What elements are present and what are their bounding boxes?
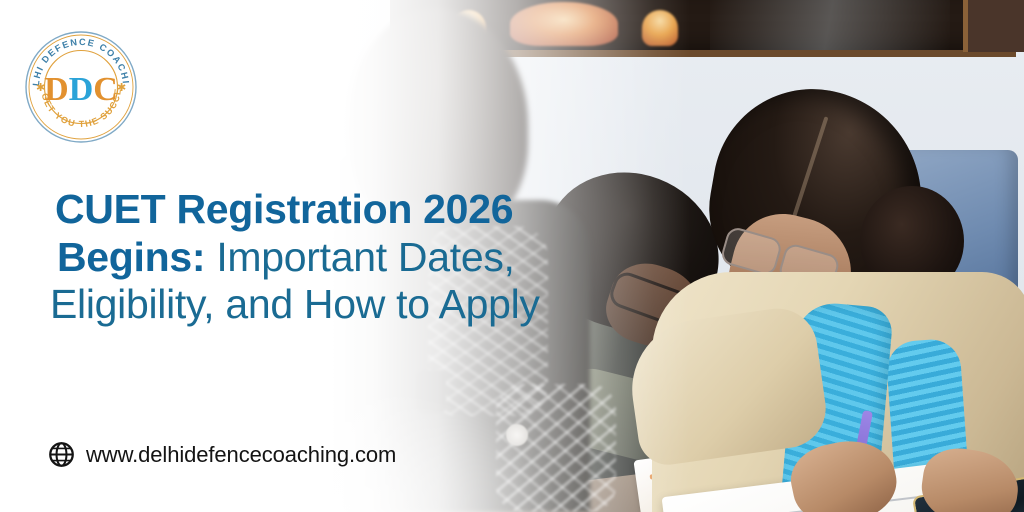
logo-star-right: ✱	[117, 82, 126, 94]
content-layer: DELHI DEFENCE COACHING WE GET YOU THE SU…	[0, 0, 1024, 512]
headline-line-1: CUET Registration 2026	[55, 186, 692, 234]
headline-line-3: Eligibility, and How to Apply	[50, 281, 692, 329]
headline-line-2: Begins: Important Dates,	[57, 234, 692, 282]
globe-icon	[48, 441, 75, 468]
page-title: CUET Registration 2026 Begins: Important…	[52, 186, 692, 329]
logo-monogram: DDC	[44, 71, 118, 108]
headline-line-2-regular: Important Dates,	[205, 234, 514, 280]
banner: DELHI DEFENCE COACHING WE GET YOU THE SU…	[0, 0, 1024, 512]
delhi-defence-coaching-logo[interactable]: DELHI DEFENCE COACHING WE GET YOU THE SU…	[22, 28, 140, 146]
headline-line-3-regular: Eligibility, and How to Apply	[50, 281, 540, 327]
headline-line-1-bold: CUET Registration 2026	[55, 186, 513, 232]
website-url[interactable]: www.delhidefencecoaching.com	[86, 442, 396, 468]
website-footer[interactable]: www.delhidefencecoaching.com	[48, 441, 396, 468]
headline-line-2-bold: Begins:	[57, 234, 205, 280]
